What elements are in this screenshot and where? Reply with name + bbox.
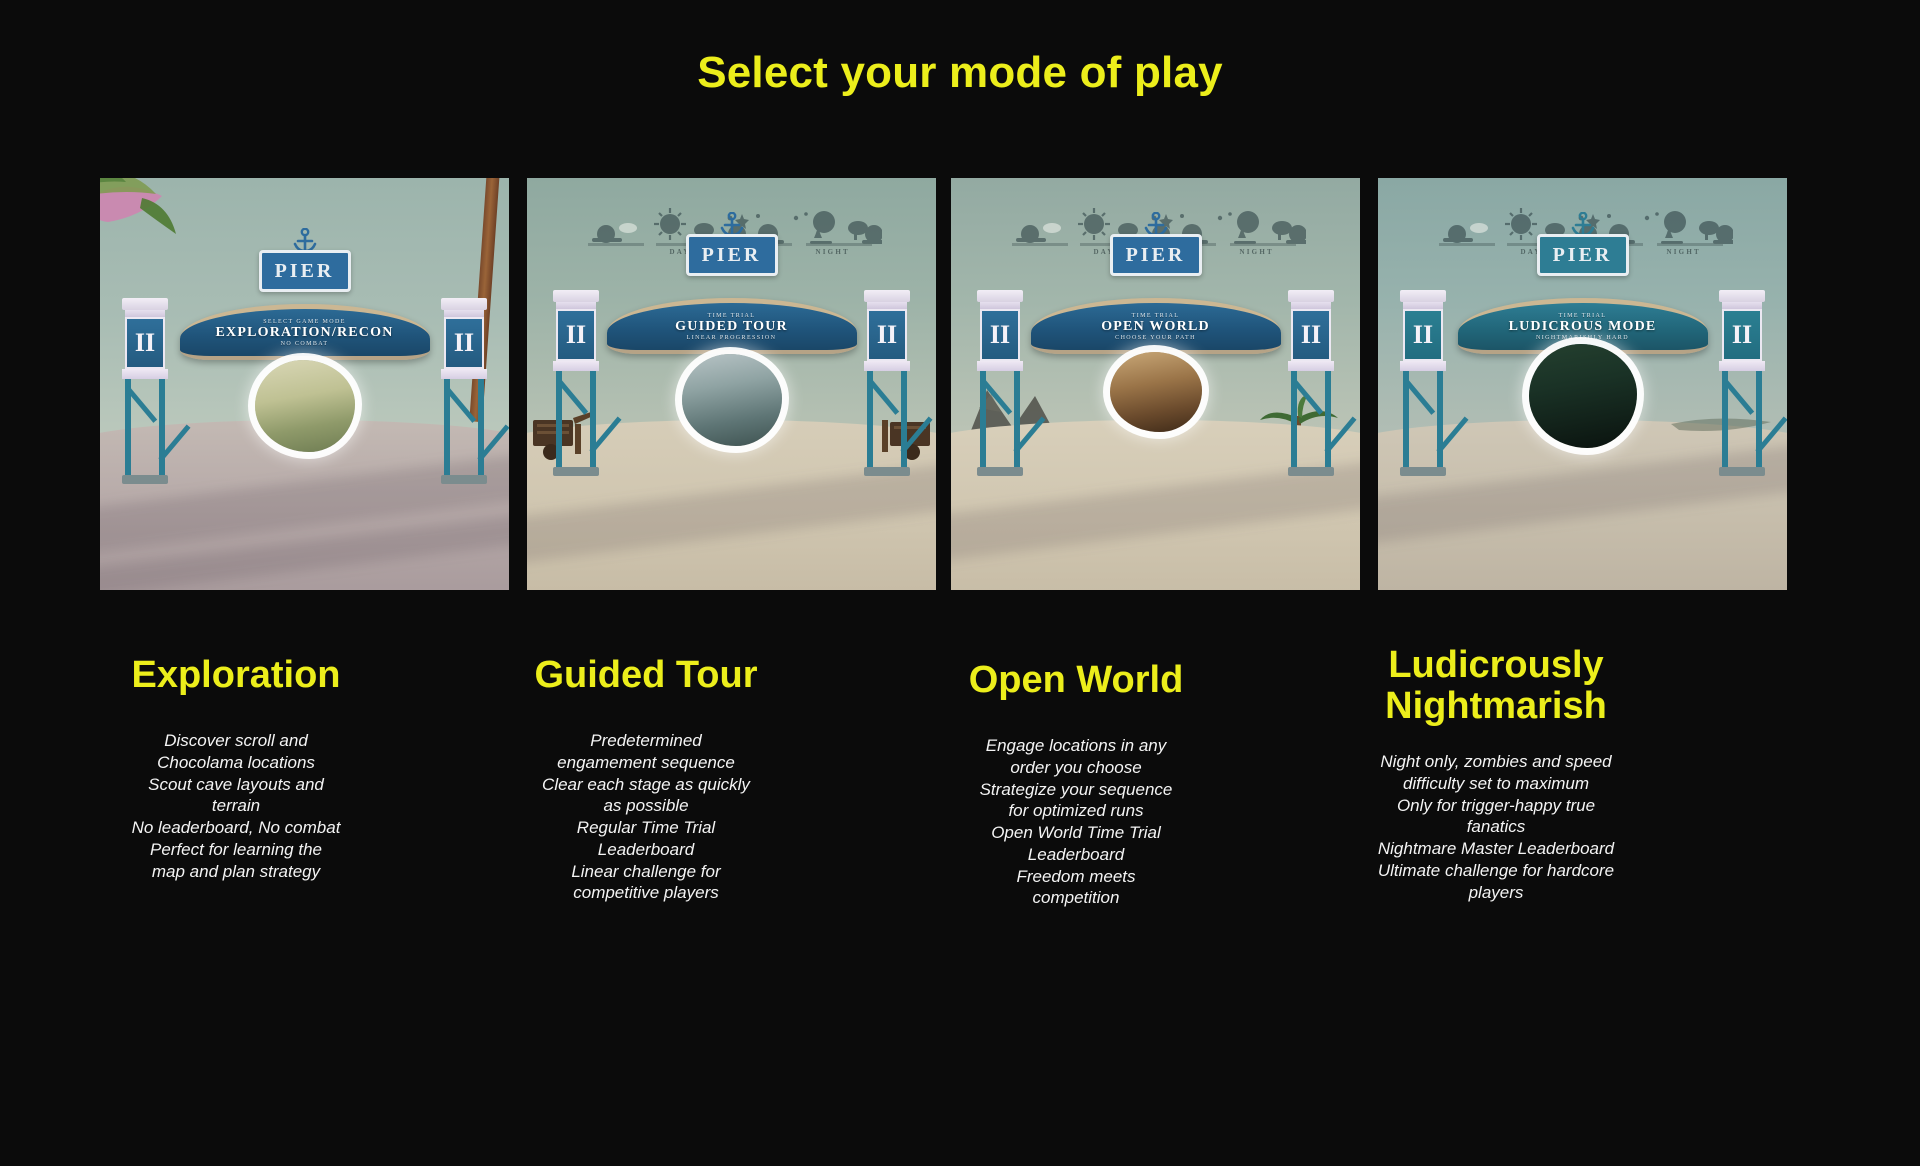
tower-glyph: II [556,309,596,361]
mode-description: Discover scroll and Chocolama locations … [60,730,412,882]
tower-glyph: II [444,317,484,369]
desc-line: Clear each stage as quickly [470,774,822,796]
mode-title: Ludicrously Nightmarish [1320,645,1672,727]
mode-thumbnail-exploration[interactable]: PIER II II SELECT GAME MODE EXPLORATION/… [100,178,509,590]
desc-line: for optimized runs [900,800,1252,822]
pier-tower-right: II [1288,290,1334,476]
pier-tower-right: II [441,298,487,484]
desc-line: Perfect for learning the [60,839,412,861]
pier-sign-group: PIER [686,234,778,276]
desc-line: Leaderboard [900,844,1252,866]
pier-tower-right: II [1719,290,1765,476]
pier-tower-left: II [1400,290,1446,476]
pier-sign: PIER [1110,234,1202,276]
banner-bottom-label: LINEAR PROGRESSION [687,335,777,341]
banner-main-label: LUDICROUS MODE [1509,319,1657,335]
desc-line: fanatics [1320,816,1672,838]
desc-line: Leaderboard [470,839,822,861]
mode-description: Engage locations in any order you choose… [900,735,1252,909]
pier-sign-group: PIER [1537,234,1629,276]
tower-glyph: II [1403,309,1443,361]
mode-caption-guided-tour[interactable]: Guided Tour Predetermined engamement seq… [470,655,822,904]
anchor-icon [1143,212,1169,236]
desc-line: Ultimate challenge for hardcore [1320,860,1672,882]
desc-line: difficulty set to maximum [1320,773,1672,795]
desc-line: Linear challenge for [470,861,822,883]
mode-title: Open World [900,660,1252,701]
tower-glyph: II [1722,309,1762,361]
pier-sign: PIER [259,250,351,292]
desc-line: Strategize your sequence [900,779,1252,801]
desc-line: Open World Time Trial [900,822,1252,844]
desc-line: order you choose [900,757,1252,779]
pier-tower-left: II [122,298,168,484]
foliage-decoration [100,178,232,294]
desc-line: Nightmare Master Leaderboard [1320,838,1672,860]
mode-title: Exploration [60,655,412,696]
pier-tower-left: II [977,290,1023,476]
mode-portal[interactable] [1529,344,1637,448]
banner-main-label: GUIDED TOUR [675,319,788,335]
desc-line: Regular Time Trial [470,817,822,839]
desc-line: Discover scroll and [60,730,412,752]
desc-line: No leaderboard, No combat [60,817,412,839]
mode-caption-open-world[interactable]: Open World Engage locations in any order… [900,660,1252,909]
desc-line: map and plan strategy [60,861,412,883]
pier-sign: PIER [686,234,778,276]
desc-line: Freedom meets [900,866,1252,888]
desc-line: competition [900,887,1252,909]
desc-line: Night only, zombies and speed [1320,751,1672,773]
desc-line: engamement sequence [470,752,822,774]
desc-line: players [1320,882,1672,904]
banner-bottom-label: NIGHTMARISHLY HARD [1536,335,1629,341]
mode-description: Night only, zombies and speed difficulty… [1320,751,1672,903]
pier-sign-label: PIER [275,260,335,283]
pier-sign-label: PIER [702,244,762,267]
tower-glyph: II [867,309,907,361]
tower-glyph: II [125,317,165,369]
desc-line: Chocolama locations [60,752,412,774]
desc-line: terrain [60,795,412,817]
pier-tower-right: II [864,290,910,476]
banner-bottom-label: NO COMBAT [281,341,329,347]
mode-title-line1: Ludicrously [1320,645,1672,686]
pier-sign: PIER [1537,234,1629,276]
tower-glyph: II [1291,309,1331,361]
pier-sign-group: PIER [259,250,351,292]
mode-title: Guided Tour [470,655,822,696]
desc-line: Scout cave layouts and [60,774,412,796]
mode-select-screen: Select your mode of play [0,0,1920,1166]
pier-sign-group: PIER [1110,234,1202,276]
mode-portal[interactable] [1110,352,1202,432]
mode-portal[interactable] [682,354,782,446]
mode-caption-exploration[interactable]: Exploration Discover scroll and Chocolam… [60,655,412,882]
desc-line: Only for trigger-happy true [1320,795,1672,817]
banner-main-label: EXPLORATION/RECON [215,325,393,341]
anchor-icon [292,228,318,252]
anchor-icon [1570,212,1596,236]
banner-main-label: OPEN WORLD [1101,319,1210,335]
banner-bottom-label: CHOOSE YOUR PATH [1115,335,1196,341]
hud-night-label: NIGHT [1240,248,1274,256]
mode-caption-ludicrously-nightmarish[interactable]: Ludicrously Nightmarish Night only, zomb… [1320,645,1672,903]
mode-thumbnail-row: PIER II II SELECT GAME MODE EXPLORATION/… [0,178,1920,598]
desc-line: as possible [470,795,822,817]
mode-thumbnail-ludicrously-nightmarish[interactable]: DAY NIGHT PIER [1378,178,1787,590]
desc-line: competitive players [470,882,822,904]
mode-title-line2: Nightmarish [1320,686,1672,727]
hud-night-label: NIGHT [816,248,850,256]
hud-night-label: NIGHT [1667,248,1701,256]
desc-line: Engage locations in any [900,735,1252,757]
pier-tower-left: II [553,290,599,476]
mode-thumbnail-open-world[interactable]: DAY NIGHT [951,178,1360,590]
mode-portal[interactable] [255,360,355,452]
anchor-icon [719,212,745,236]
pier-sign-label: PIER [1553,244,1613,267]
mode-thumbnail-guided-tour[interactable]: DAY NIGHT [527,178,936,590]
page-title: Select your mode of play [0,48,1920,98]
pier-sign-label: PIER [1126,244,1186,267]
desc-line: Predetermined [470,730,822,752]
mode-description: Predetermined engamement sequence Clear … [470,730,822,904]
tower-glyph: II [980,309,1020,361]
